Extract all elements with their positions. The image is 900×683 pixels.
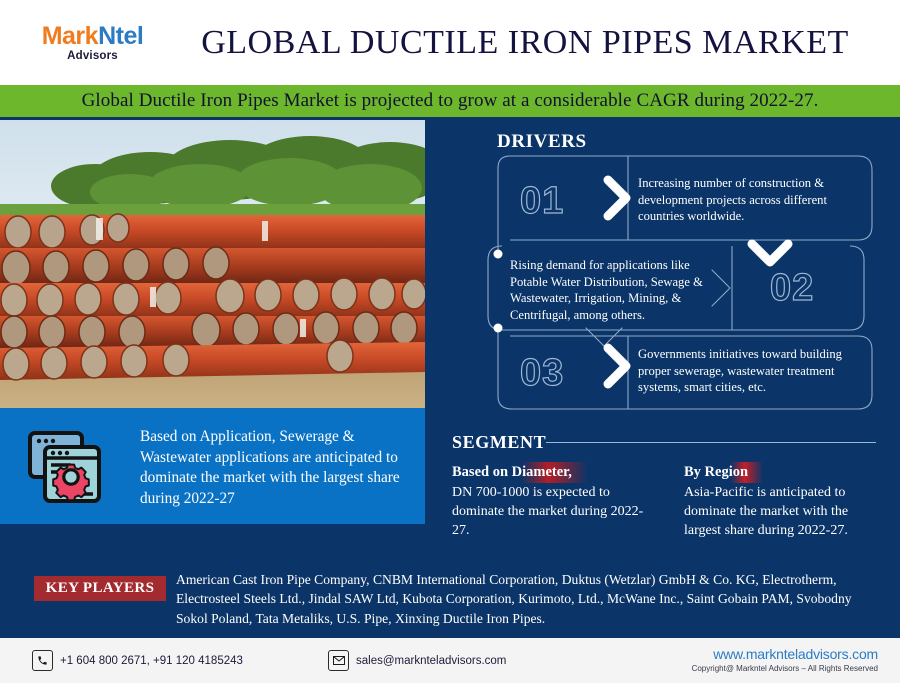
segment-column-diameter: Based on Diameter, DN 700-1000 is expect… — [452, 462, 652, 540]
segment-heading: SEGMENT — [452, 432, 546, 453]
brand-logo: MarkNtel Advisors — [30, 24, 155, 62]
segment-body-region: Asia-Pacific is anticipated to dominate … — [684, 484, 884, 540]
segment-divider — [546, 442, 876, 443]
driver-text-01: Increasing number of construction & deve… — [638, 175, 860, 225]
application-callout: Based on Application, Sewerage & Wastewa… — [0, 408, 425, 524]
footer-phone[interactable]: +1 604 800 2671, +91 120 4185243 — [32, 650, 243, 671]
footer-email[interactable]: sales@marknteladvisors.com — [328, 650, 506, 671]
footer-copyright: Copyright@ Markntel Advisors – All Right… — [692, 664, 878, 673]
logo-ntel-text: Ntel — [98, 22, 143, 50]
driver-number-03: 03 — [520, 352, 564, 395]
window-gear-icon — [25, 427, 105, 507]
tagline-banner: Global Ductile Iron Pipes Market is proj… — [0, 85, 900, 117]
key-players-text: American Cast Iron Pipe Company, CNBM In… — [176, 570, 882, 628]
envelope-icon — [328, 650, 349, 671]
driver-number-02: 02 — [770, 267, 814, 310]
footer-phone-text: +1 604 800 2671, +91 120 4185243 — [60, 655, 243, 667]
footer-website[interactable]: www.marknteladvisors.com Copyright@ Mark… — [692, 646, 878, 673]
application-text: Based on Application, Sewerage & Wastewa… — [140, 427, 405, 510]
tagline-text: Global Ductile Iron Pipes Market is proj… — [82, 90, 819, 112]
driver-number-01: 01 — [520, 180, 564, 223]
page-title: GLOBAL DUCTILE IRON PIPES MARKET — [175, 24, 875, 62]
driver-text-02: Rising demand for applications like Pota… — [510, 257, 725, 323]
segment-column-region: By Region Asia-Pacific is anticipated to… — [684, 462, 884, 540]
footer-url-text: www.marknteladvisors.com — [692, 646, 878, 662]
pipes-photo — [0, 120, 425, 408]
phone-icon — [32, 650, 53, 671]
footer: +1 604 800 2671, +91 120 4185243 sales@m… — [0, 636, 900, 683]
segment-heading-diameter: Based on Diameter, — [452, 462, 586, 483]
logo-subtitle: Advisors — [30, 50, 155, 62]
logo-mark-text: Mark — [42, 22, 98, 50]
key-players-badge: KEY PLAYERS — [34, 576, 166, 601]
logo-wordmark: MarkNtel — [30, 24, 155, 49]
footer-email-text: sales@marknteladvisors.com — [356, 655, 506, 667]
segment-body-diameter: DN 700-1000 is expected to dominate the … — [452, 484, 652, 540]
header: MarkNtel Advisors GLOBAL DUCTILE IRON PI… — [0, 0, 900, 85]
infographic-page: MarkNtel Advisors GLOBAL DUCTILE IRON PI… — [0, 0, 900, 683]
driver-text-03: Governments initiatives toward building … — [638, 346, 866, 396]
segment-heading-region: By Region — [684, 462, 762, 483]
drivers-list: 01 Increasing number of construction & d… — [480, 150, 880, 415]
